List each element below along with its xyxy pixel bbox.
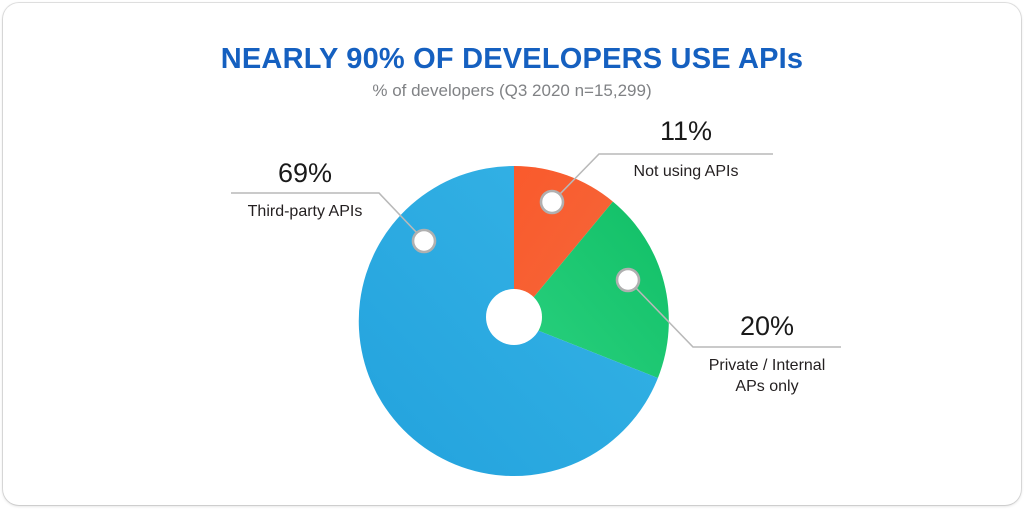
callout-percent-not-using-apis: 11% <box>599 116 773 147</box>
chart-card: NEARLY 90% OF DEVELOPERS USE APIs % of d… <box>3 3 1021 505</box>
slice-marker-dot-third-party-apis <box>419 236 428 245</box>
donut-chart-svg <box>3 3 1021 505</box>
callout-label-not-using-apis: Not using APIs <box>599 161 773 182</box>
callout-label-private-internal-line1: Private / Internal <box>679 355 855 376</box>
callout-label-third-party-apis: Third-party APIs <box>231 201 379 222</box>
callout-label-private-internal-line2: APs only <box>679 376 855 397</box>
callout-percent-third-party-apis: 69% <box>231 158 379 189</box>
callout-percent-private-internal: 20% <box>693 311 841 342</box>
donut-chart: 69% Third-party APIs 11% Not using APIs … <box>3 3 1021 505</box>
slice-marker-dot-private-internal <box>623 275 632 284</box>
callout-label-private-internal: Private / Internal APs only <box>679 355 855 397</box>
donut-center-hole <box>486 289 542 345</box>
slice-marker-dot-not-using-apis <box>547 197 556 206</box>
